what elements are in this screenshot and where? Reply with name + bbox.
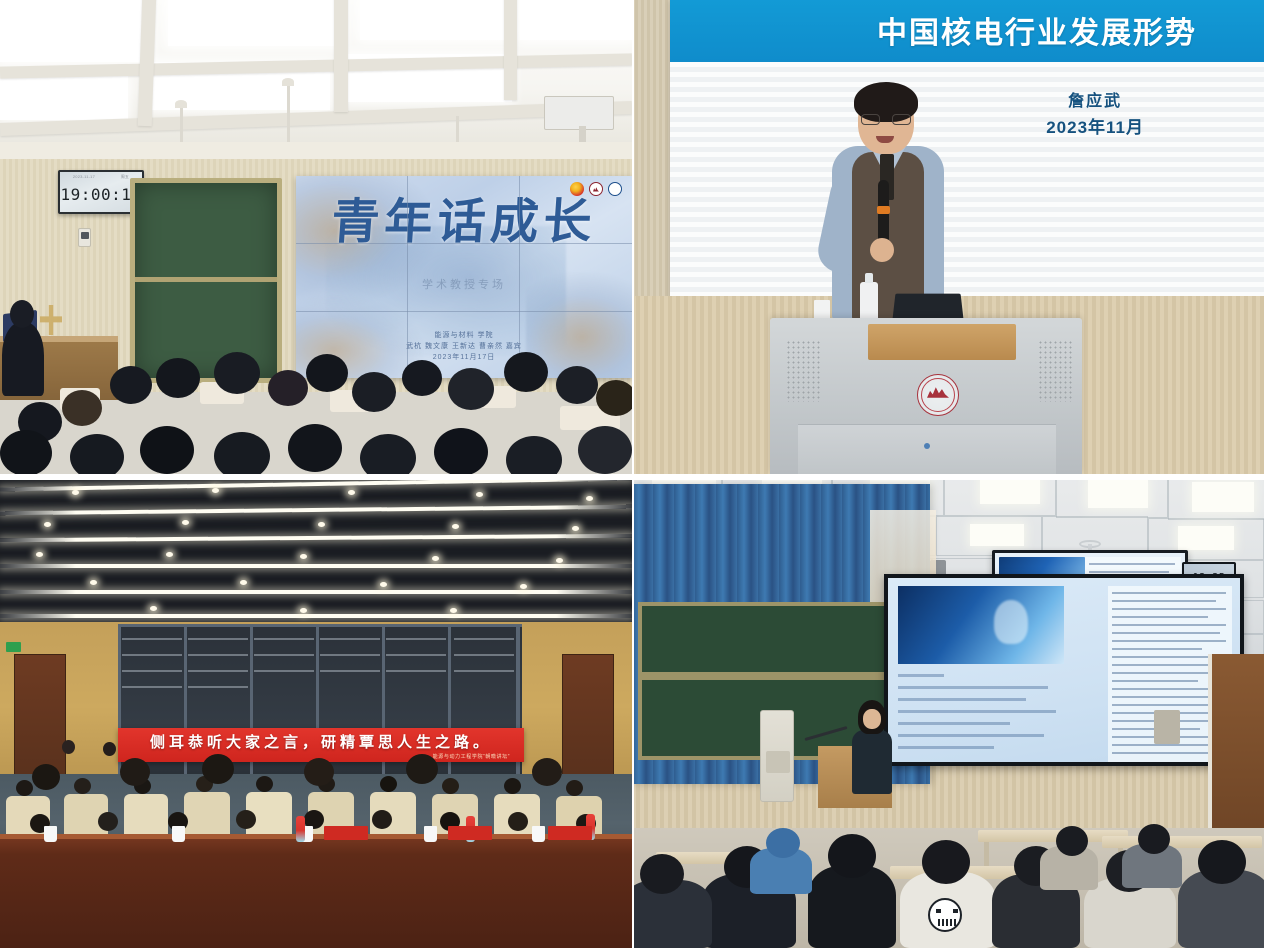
strip-light: [0, 505, 632, 516]
student-head: [1198, 840, 1246, 884]
communist-youth-league-logo: [570, 182, 584, 196]
ceiling-downlight: [90, 580, 97, 585]
audience-head: [62, 390, 102, 426]
auditorium-door: [562, 654, 614, 794]
auditorium-ceiling: [0, 474, 632, 622]
shelf-line: [454, 654, 514, 656]
name-plate: [448, 826, 492, 840]
audience-head: [236, 810, 256, 829]
glasses-icon: [861, 114, 911, 125]
ceiling-downlight: [300, 554, 307, 559]
ceiling-beam: [334, 0, 348, 112]
audience-head: [596, 380, 632, 416]
desk-leg: [984, 842, 989, 866]
audience-head: [110, 366, 152, 404]
ceiling-downlight: [318, 522, 325, 527]
student-head: [1056, 826, 1088, 856]
projection-screen: [884, 574, 1244, 766]
podium-base: [798, 424, 1056, 474]
audience-head: [402, 360, 442, 396]
audience-head: [508, 812, 528, 831]
beverage-bottle: [296, 816, 305, 842]
banner-sub-text: 能源与动力工程学院“朝暾讲坛”: [433, 753, 510, 760]
table-row: [1112, 640, 1226, 642]
slide-footer-line: 能源与材料 学院: [296, 331, 632, 342]
podium-speaker-grill: [1038, 340, 1074, 402]
audience-head: [74, 778, 91, 794]
strip-light: [0, 564, 632, 568]
mullion: [118, 624, 522, 627]
ceiling-downlight: [452, 524, 459, 529]
audience-head: [140, 426, 194, 474]
shelf-line: [254, 638, 314, 640]
shelf-line: [454, 670, 514, 672]
laptop: [892, 294, 963, 320]
audience-crowd: [0, 346, 632, 474]
shelf-line: [188, 686, 248, 688]
slide-logos: [570, 182, 622, 196]
ceiling-panel-light: [970, 524, 1024, 546]
shelf-line: [254, 670, 314, 672]
lecture-podium: [770, 318, 1082, 474]
shelf-line: [188, 654, 248, 656]
mullion: [382, 624, 385, 794]
speaker-person: [828, 88, 948, 320]
student-head-cap: [766, 828, 800, 858]
strip-light: [0, 534, 632, 542]
student-body: [808, 866, 896, 948]
shelf-line: [320, 670, 380, 672]
ceiling-downlight: [380, 582, 387, 587]
head-table: [0, 834, 632, 948]
audience-head: [156, 358, 200, 398]
university-emblem-blue-icon: [608, 182, 622, 196]
audience-head: [360, 434, 416, 474]
audience-head: [352, 372, 396, 412]
skylight: [520, 0, 632, 40]
shelf-line: [386, 654, 446, 656]
front-row-head: [32, 764, 60, 790]
panel-top-right: 中国核电行业发展形势 詹应武 2023年11月: [632, 0, 1264, 474]
ceiling-panel-light: [1178, 526, 1234, 550]
speaker-hand: [870, 238, 894, 262]
shelf-line: [254, 654, 314, 656]
table-row: [1112, 696, 1210, 698]
exit-sign: [6, 642, 21, 652]
audience-head: [16, 780, 33, 796]
shelf-line: [454, 638, 514, 640]
ceiling-downlight: [520, 584, 527, 589]
slide-subtitle: 学术教授专场: [296, 276, 632, 292]
content-row: [898, 734, 1044, 737]
clock-date: 2023-11-17: [73, 174, 95, 180]
ceiling-dome: [175, 100, 187, 108]
panel-divider-horizontal: [0, 474, 1264, 480]
ceiling-downlight: [450, 608, 457, 613]
audience-head: [434, 428, 488, 474]
audience-head: [268, 370, 308, 406]
projection-screen: 中国核电行业发展形势 詹应武 2023年11月: [670, 0, 1264, 298]
shelf-line: [386, 638, 446, 640]
emblem-mountain-mark: [927, 386, 949, 398]
ceiling-downlight: [72, 490, 79, 495]
audience-head: [306, 354, 348, 392]
table-row: [1112, 616, 1208, 618]
banner-main-text: 侧耳恭听大家之言，研精覃思人生之路。: [118, 731, 524, 752]
ceiling-downlight: [572, 526, 579, 531]
table-row: [1112, 624, 1226, 626]
skylight: [168, 0, 344, 46]
table-row: [1112, 592, 1226, 594]
microphone-icon: [878, 180, 889, 246]
audience-head: [70, 434, 124, 474]
front-row-head: [202, 754, 234, 784]
shelf-line: [122, 670, 182, 672]
presenter-person: [850, 700, 894, 796]
content-row: [898, 674, 944, 677]
seat: [184, 792, 230, 836]
skylight: [0, 0, 150, 62]
screen-content: [888, 578, 1240, 762]
content-row: [898, 746, 994, 749]
wall-control-box: [1154, 710, 1180, 744]
person-head: [62, 740, 75, 754]
student-head: [922, 840, 970, 884]
table-row: [1112, 664, 1214, 666]
water-cup: [424, 826, 437, 842]
shelf-line: [320, 638, 380, 640]
ceiling-downlight: [182, 520, 189, 525]
ceiling-downlight: [556, 558, 563, 563]
shared-video-tile: [898, 586, 1064, 664]
audience-head: [442, 778, 459, 794]
student-head: [640, 854, 684, 894]
content-row: [898, 710, 1056, 713]
seat: [124, 794, 168, 838]
table-row: [1112, 600, 1216, 602]
audience-head: [506, 436, 562, 474]
front-row-head: [406, 754, 438, 784]
student-head: [1138, 824, 1170, 854]
panel-bottom-left: 侧耳恭听大家之言，研精覃思人生之路。 能源与动力工程学院“朝暾讲坛”: [0, 474, 632, 948]
photo-collage: 2023-11-17 周五 19:00:15 青年话成长 学术教授专场 能源与材…: [0, 0, 1264, 948]
wall-top-band: [0, 142, 632, 159]
table-row: [1112, 648, 1202, 650]
strip-light: [0, 614, 632, 618]
content-row: [898, 698, 1026, 701]
air-conditioner-unit: [760, 710, 794, 802]
smiley-face-graphic-icon: [928, 898, 962, 932]
mullion: [250, 624, 253, 794]
name-plate: [548, 826, 592, 840]
clock-weekday: 周五: [121, 174, 129, 180]
audience-head: [448, 368, 494, 410]
panel-seam: [296, 311, 632, 312]
ceiling-downlight: [150, 606, 157, 611]
slide-title: 青年话成长: [296, 198, 632, 246]
chalkboard: [638, 602, 888, 676]
slide-date: 2023年11月: [1046, 115, 1144, 141]
content-row: [898, 722, 1010, 725]
ceiling-panel-light: [1192, 482, 1254, 512]
person-head: [103, 742, 116, 756]
water-cup: [172, 826, 185, 842]
audience-head: [256, 776, 273, 792]
shelf-line: [188, 670, 248, 672]
student-head: [828, 834, 876, 878]
content-row: [898, 686, 1048, 689]
audience-head: [214, 352, 260, 394]
name-plate: [324, 826, 368, 840]
panel-top-left: 2023-11-17 周五 19:00:15 青年话成长 学术教授专场 能源与材…: [0, 0, 632, 474]
projector-mount: [544, 96, 614, 130]
panel-bottom-right: 12:25: [632, 474, 1264, 948]
audience-head: [214, 432, 270, 474]
skylight: [360, 0, 510, 40]
shelf-line: [386, 670, 446, 672]
ceiling-beam: [504, 0, 517, 100]
audience-head: [556, 366, 598, 404]
ceiling-downlight: [586, 496, 593, 501]
ceiling-downlight: [300, 608, 307, 613]
paper-cup: [814, 300, 830, 320]
presenter-body: [852, 730, 892, 794]
audience-head: [372, 810, 392, 829]
shelf-line: [122, 686, 182, 688]
panel-seam: [296, 243, 632, 244]
front-row-head: [532, 758, 562, 786]
audience-head: [288, 424, 342, 472]
university-emblem-icon: [917, 374, 959, 416]
table-row: [1112, 744, 1212, 746]
list-row: [1089, 571, 1169, 573]
ceiling-downlight: [476, 492, 483, 497]
table-row: [1112, 632, 1220, 634]
audience-head: [0, 430, 52, 474]
ceiling-downlight: [348, 490, 355, 495]
table-row: [1112, 680, 1198, 682]
water-cup: [532, 826, 545, 842]
card-reader: [78, 228, 91, 247]
ceiling-downlight: [240, 580, 247, 585]
audience-head: [566, 780, 583, 796]
list-row: [1089, 563, 1175, 565]
university-emblem-red-icon: [589, 182, 603, 196]
podium-speaker-grill: [786, 340, 822, 402]
ceiling-panel-light: [1088, 480, 1148, 508]
ceiling-panel-light: [980, 478, 1040, 504]
shelf-line: [320, 654, 380, 656]
shelf-line: [122, 654, 182, 656]
water-cup: [44, 826, 57, 842]
slide-author-block: 詹应武 2023年11月: [1046, 90, 1144, 141]
shelf-line: [188, 638, 248, 640]
ceiling-dome: [282, 78, 294, 86]
mullion: [184, 624, 187, 794]
shelf-line: [122, 638, 182, 640]
audience-head: [504, 352, 548, 392]
ceiling-downlight: [432, 556, 439, 561]
ceiling: [0, 0, 632, 148]
skylight: [0, 76, 128, 120]
slide-body: [670, 62, 1264, 298]
mullion: [516, 624, 520, 794]
audience-head: [380, 776, 397, 792]
event-banner: 侧耳恭听大家之言，研精覃思人生之路。 能源与动力工程学院“朝暾讲坛”: [118, 728, 524, 762]
ceiling-downlight: [166, 552, 173, 557]
slide-title: 中国核电行业发展形势: [670, 0, 1264, 62]
mullion: [448, 624, 451, 794]
front-row-head: [304, 758, 334, 786]
ceiling-downlight: [36, 552, 43, 557]
audience-head: [578, 426, 632, 474]
ceiling-downlight: [44, 522, 51, 527]
front-row-head: [120, 758, 150, 786]
podium-wood-top: [868, 324, 1016, 360]
audience-head: [98, 812, 118, 831]
person-head: [10, 300, 34, 328]
presenter-face: [863, 709, 881, 729]
audience-head: [504, 778, 521, 794]
slide-presenter-name: 詹应武: [1046, 90, 1144, 115]
ceiling-downlight: [212, 488, 219, 493]
strip-light: [0, 590, 632, 594]
classroom-door: [1208, 654, 1264, 834]
table-row: [1112, 608, 1226, 610]
